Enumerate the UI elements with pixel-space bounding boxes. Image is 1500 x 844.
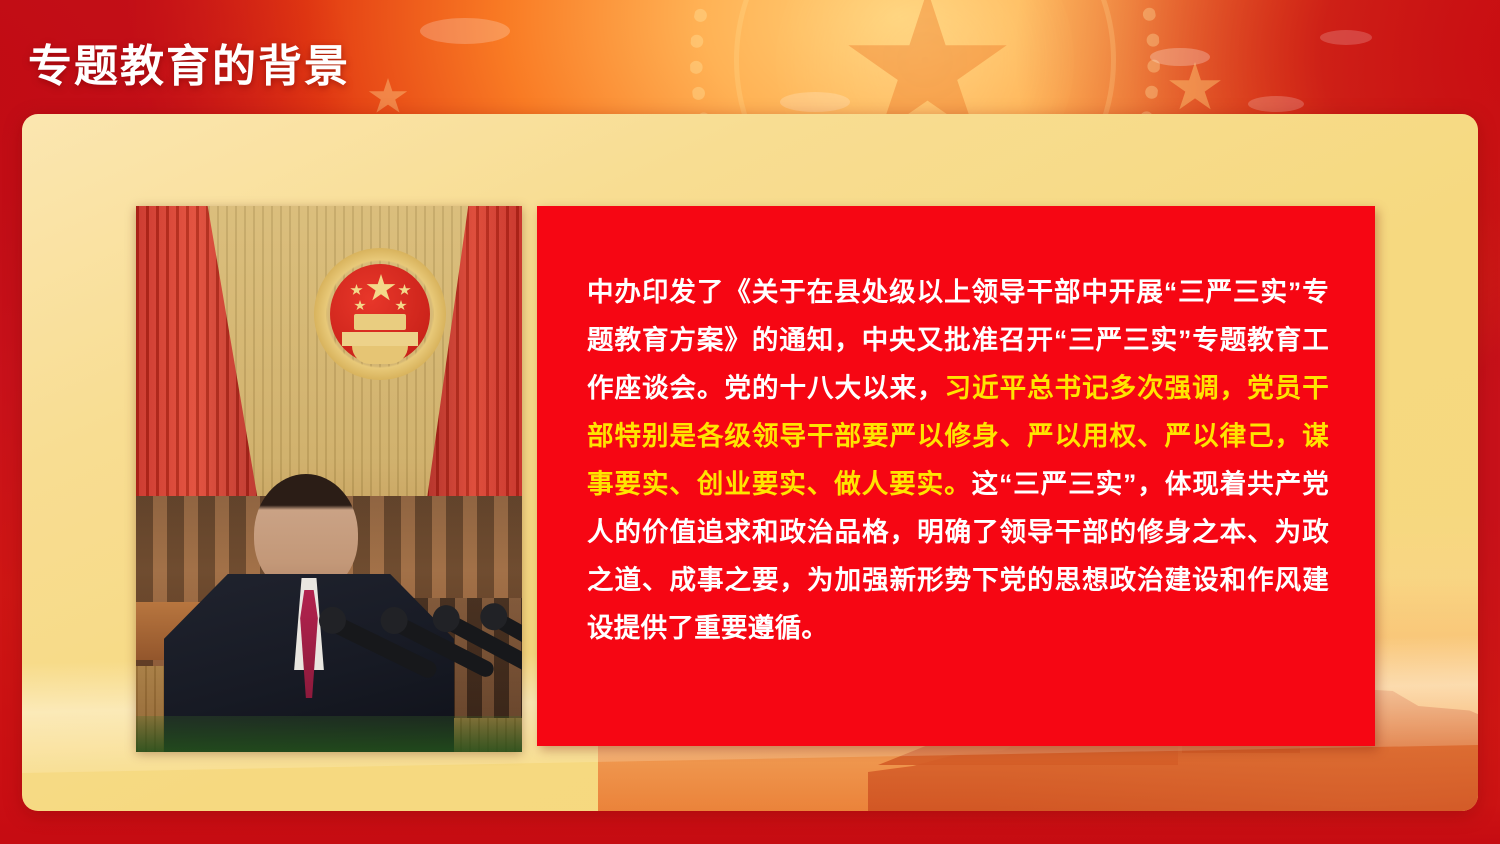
leader-speech-photo xyxy=(136,206,522,752)
body-text-box: 中办印发了《关于在县处级以上领导干部中开展“三严三实”专题教育方案》的通知，中央… xyxy=(537,206,1375,746)
body-paragraph: 中办印发了《关于在县处级以上领导干部中开展“三严三实”专题教育方案》的通知，中央… xyxy=(587,268,1329,652)
page-title: 专题教育的背景 xyxy=(28,30,350,94)
national-emblem-icon xyxy=(314,248,446,380)
presentation-slide: 专题教育的背景 xyxy=(0,0,1500,844)
